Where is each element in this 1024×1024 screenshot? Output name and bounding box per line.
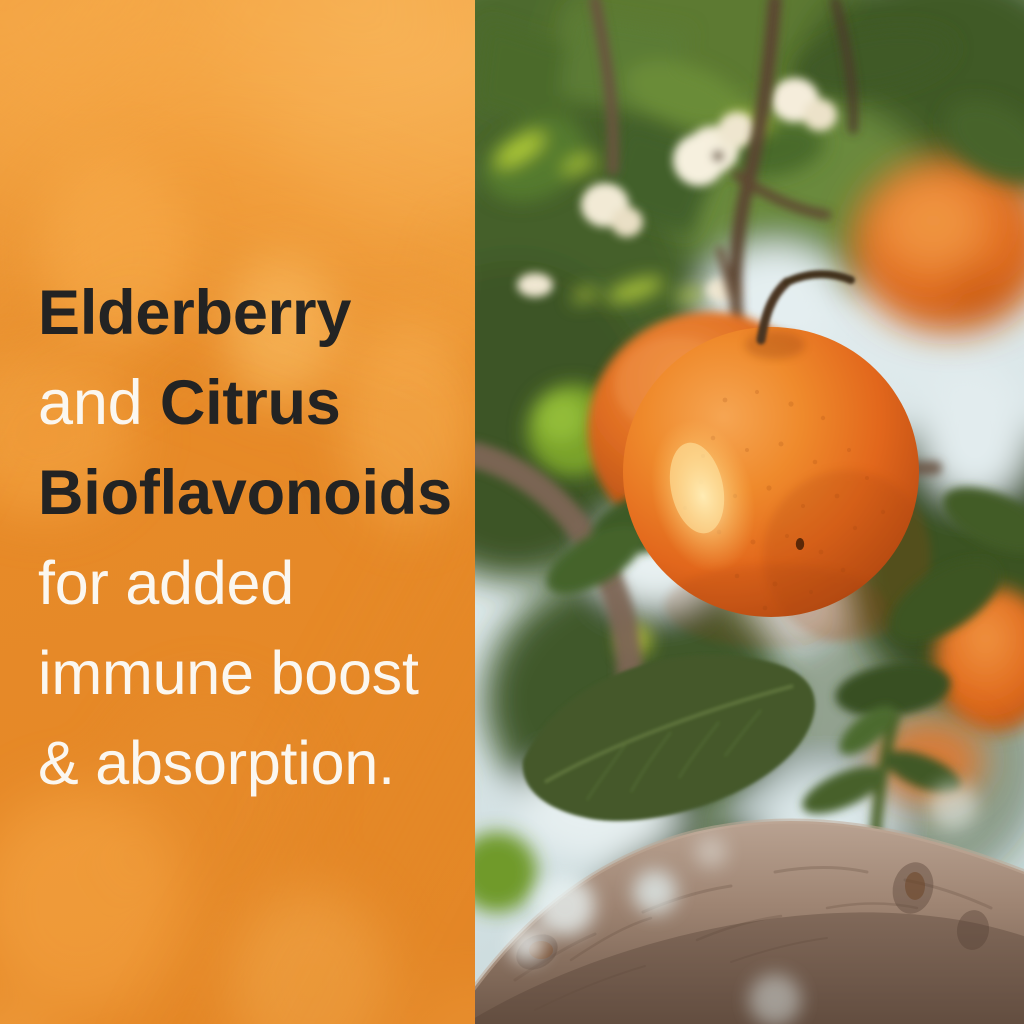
headline-line-3: Bioflavonoids bbox=[38, 448, 468, 538]
copy-panel: Elderberry and Citrus Bioflavonoids for … bbox=[0, 0, 475, 1024]
orange-tree-photo: Ripe oranges hanging on a citrus tree br… bbox=[475, 0, 1024, 1024]
headline-line-1: Elderberry bbox=[38, 268, 468, 358]
headline-word-elderberry: Elderberry bbox=[38, 278, 351, 348]
headline-word-citrus: Citrus bbox=[160, 368, 341, 438]
headline-word-bioflavonoids: Bioflavonoids bbox=[38, 458, 452, 528]
page-title: Elderberry and Citrus Bioflavonoids bbox=[38, 268, 468, 538]
headline-word-and: and bbox=[38, 368, 160, 438]
orange-tree-illustration bbox=[475, 0, 1024, 1024]
subtitle-line-2: immune boost bbox=[38, 628, 468, 718]
subtitle-line-3: & absorption. bbox=[38, 718, 468, 808]
promo-banner: Elderberry and Citrus Bioflavonoids for … bbox=[0, 0, 1024, 1024]
subtitle-line-1: for added bbox=[38, 538, 468, 628]
subtitle: for added immune boost & absorption. bbox=[38, 538, 468, 808]
headline-line-2: and Citrus bbox=[38, 358, 468, 448]
